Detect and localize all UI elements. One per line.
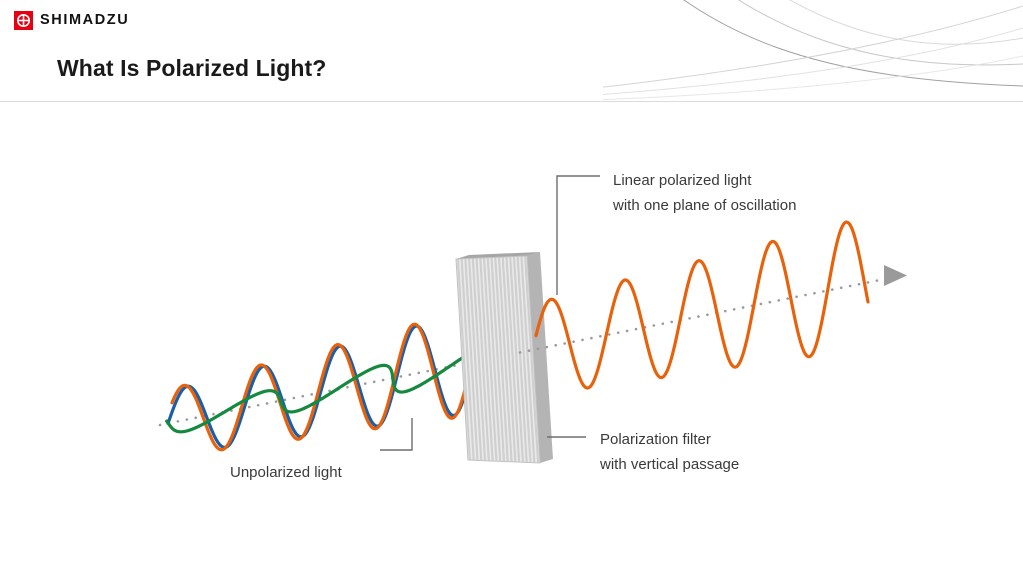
unpolarized-wave-bundle	[167, 304, 506, 450]
leader-linear-polarized	[557, 176, 600, 295]
label-polarization-filter-line1: Polarization filter	[600, 427, 739, 452]
page-title: What Is Polarized Light?	[57, 55, 326, 82]
polarized-wave-bundle	[536, 222, 868, 388]
label-polarization-filter: Polarization filter with vertical passag…	[600, 427, 739, 477]
polarization-filter	[456, 252, 553, 463]
header-decoration-arcs	[603, 0, 1023, 102]
polarized-light-figure: Linear polarized light with one plane of…	[0, 102, 1023, 575]
slide-header: SHIMADZU What Is Polarized Light?	[0, 0, 1023, 102]
label-unpolarized-light: Unpolarized light	[230, 460, 342, 485]
propagation-axis-right	[520, 265, 907, 353]
figure-canvas	[0, 102, 1023, 575]
label-linear-polarized-line1: Linear polarized light	[613, 168, 796, 193]
label-unpolarized-line1: Unpolarized light	[230, 460, 342, 485]
label-polarization-filter-line2: with vertical passage	[600, 452, 739, 477]
wave-orange-polarized	[536, 222, 868, 388]
brand-wordmark: SHIMADZU	[40, 13, 129, 28]
leader-unpolarized	[380, 418, 412, 450]
brand-logo: SHIMADZU	[14, 10, 129, 30]
wave-blue	[168, 306, 492, 447]
shimadzu-circle-cross-icon	[14, 11, 33, 30]
label-linear-polarized-light: Linear polarized light with one plane of…	[613, 168, 796, 218]
triangle-right-arrow-icon	[884, 265, 907, 286]
label-linear-polarized-line2: with one plane of oscillation	[613, 193, 796, 218]
wave-orange	[172, 304, 498, 450]
